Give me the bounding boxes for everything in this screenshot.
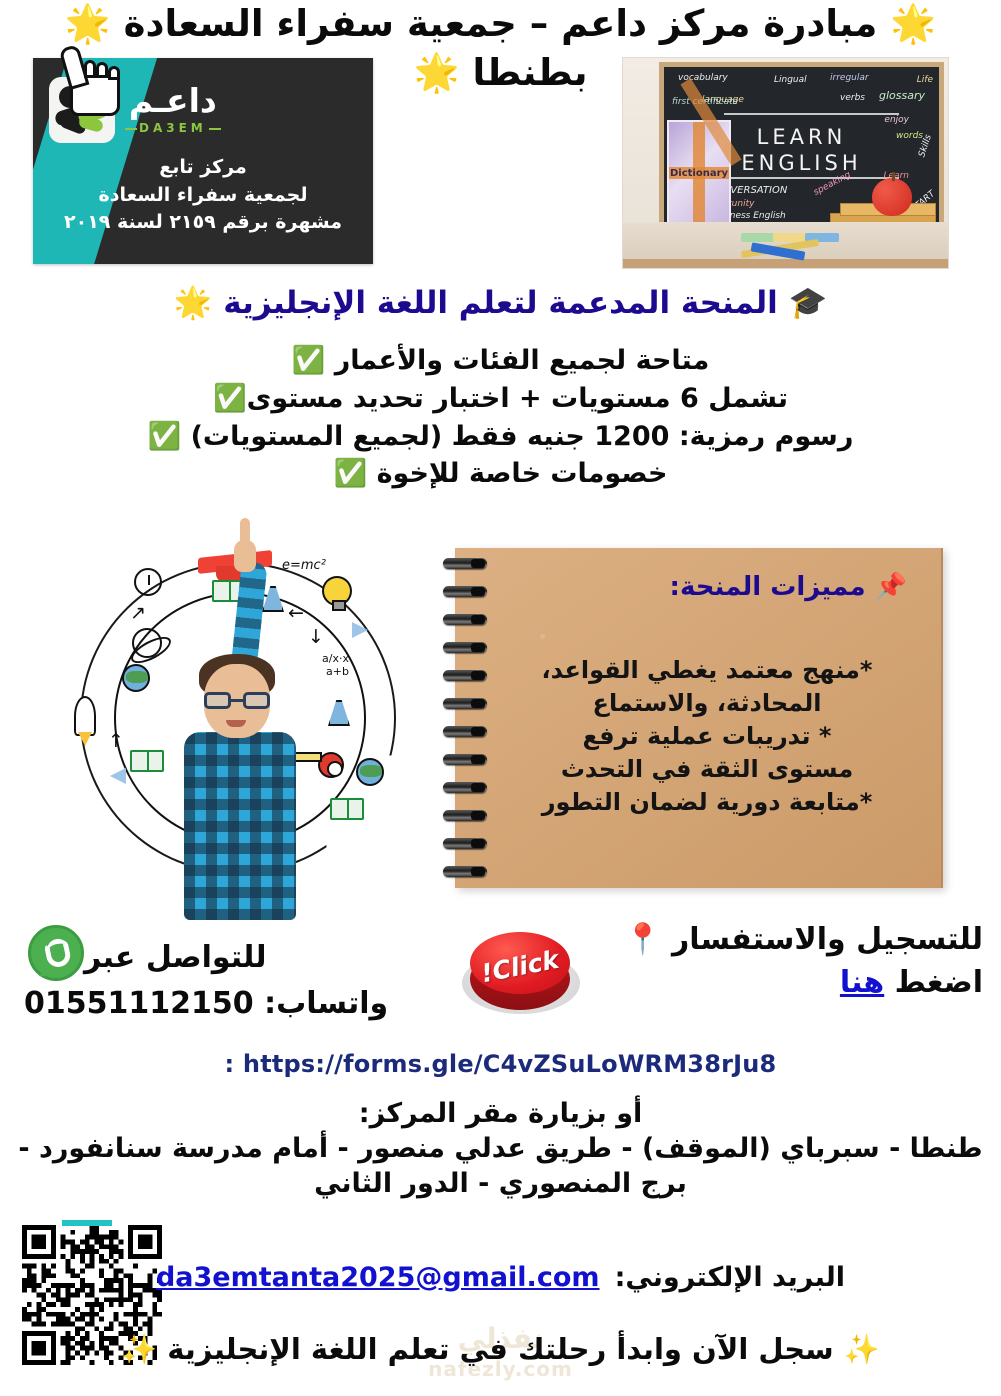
logo-sub-line2: لجمعية سفراء السعادة — [51, 182, 355, 210]
scholarship-features-notebook: 📌 مميزات المنحة: *منهج معتمد يغطي القواع… — [455, 548, 943, 888]
google-form-url[interactable]: : https://forms.gle/C4vZSuLoWRM38rJu8 — [0, 1050, 1001, 1078]
atom-doodle-icon — [132, 628, 162, 658]
email-label: البريد الإلكتروني: — [615, 1262, 845, 1293]
feature-line: مستوى الثقة في التحدث — [499, 753, 915, 786]
register-here-link[interactable]: هنا — [840, 965, 884, 1000]
center-address: أو بزيارة مقر المركز: طنطا - سبرباي (الم… — [0, 1096, 1001, 1201]
paper-plane-doodle-icon — [352, 622, 368, 638]
header-title-line1: 🌟 مبادرة مركز داعم – جمعية سفراء السعادة… — [14, 2, 987, 45]
apple-icon — [872, 178, 912, 216]
chalk-word: glossary — [879, 89, 925, 102]
footer-cta: ✨ سجل الآن وابدأ رحلتك في تعلم اللغة الإ… — [0, 1332, 1001, 1367]
scholarship-bullets: متاحة لجميع الفئات والأعمار ✅ تشمل 6 مست… — [0, 342, 1001, 493]
bullet-item: رسوم رمزية: 1200 جنيه فقط (لجميع المستوي… — [18, 418, 983, 456]
bullet-item: خصومات خاصة للإخوة ✅ — [18, 455, 983, 493]
address-line1: أو بزيارة مقر المركز: — [10, 1096, 991, 1131]
scholarship-heading: 🎓 المنحة المدعمة لتعلم اللغة الإنجليزية … — [0, 286, 1001, 322]
whatsapp-contact-block: للتواصل عبر واتساب: 01551112150 — [24, 925, 434, 1023]
chalk-word: Lingual — [774, 75, 807, 85]
notebook-doodle-icon — [330, 798, 364, 820]
bullet-item: تشمل 6 مستويات + اختبار تحديد مستوى✅ — [18, 380, 983, 418]
feature-line: *متابعة دورية لضمان التطور — [499, 786, 915, 819]
notebook-spiral-binding — [443, 548, 489, 888]
dictionary-label: Dictionary — [669, 168, 729, 179]
email-row: البريد الإلكتروني: da3emtanta2025@gmail.… — [0, 1262, 1001, 1293]
logo-sub-line1: مركز تابع — [51, 154, 355, 182]
chalk-stick — [741, 233, 775, 242]
formula-doodle: e=mc² — [282, 558, 326, 573]
notebook-doodle-icon — [130, 750, 164, 772]
email-address[interactable]: da3emtanta2025@gmail.com — [156, 1262, 600, 1293]
whatsapp-line1: للتواصل عبر — [24, 925, 434, 981]
logo-subtitle-block: مركز تابع لجمعية سفراء السعادة مشهرة برق… — [51, 154, 355, 237]
click-button[interactable]: Click! — [462, 928, 580, 1024]
globe-doodle-icon — [122, 664, 150, 692]
notebook-heading: 📌 مميزات المنحة: — [670, 572, 907, 602]
rocket-doodle-icon — [74, 696, 96, 736]
form-url-suffix: : — [225, 1050, 235, 1078]
student-illustration: e=mc² a/x·xa+b ← ↓ ↗ ↑ — [22, 540, 452, 920]
whatsapp-contact-label: للتواصل عبر — [84, 940, 266, 975]
chalk-word: Life — [917, 75, 933, 85]
lightbulb-doodle-icon — [324, 578, 350, 604]
logo-wordmark: داعـم DA3EM — [125, 84, 221, 136]
feature-line: المحادثة، والاستماع — [499, 687, 915, 720]
press-label: اضغط — [884, 965, 983, 1000]
address-line3: برج المنصوري - الدور الثاني — [10, 1166, 991, 1201]
notebook-features-list: *منهج معتمد يغطي القواعد، المحادثة، والا… — [499, 654, 915, 820]
flyer-root: 🌟 مبادرة مركز داعم – جمعية سفراء السعادة… — [0, 0, 1001, 1396]
whatsapp-number-line[interactable]: واتساب: 01551112150 — [24, 985, 434, 1023]
address-line2: طنطا - سبرباي (الموقف) - طريق عدلي منصور… — [10, 1131, 991, 1166]
logo-brand-latin: DA3EM — [125, 121, 221, 135]
boy-figure — [170, 636, 310, 920]
logo-sub-line3: مشهرة برقم ٢١٥٩ لسنة ٢٠١٩ — [51, 209, 355, 237]
english-dictionary-book: Dictionary — [667, 120, 731, 226]
feature-line: * تدريبات عملية ترفع — [499, 720, 915, 753]
globe-doodle-icon — [356, 758, 384, 786]
pointing-hand-cursor-icon — [62, 44, 128, 120]
whatsapp-icon[interactable] — [28, 925, 84, 981]
paper-plane-doodle-icon — [110, 768, 126, 784]
chalk-word: enjoy — [884, 115, 909, 125]
math-doodle: a/x·xa+b — [322, 652, 349, 678]
form-url-text[interactable]: https://forms.gle/C4vZSuLoWRM38rJu8 — [243, 1050, 777, 1078]
alarm-clock-doodle-icon — [134, 568, 162, 596]
bullet-item: متاحة لجميع الفئات والأعمار ✅ — [18, 342, 983, 380]
chalk-word: verbs — [840, 93, 865, 103]
learn-english-chalkboard-photo: vocabulary Lingual irregular Life langua… — [622, 57, 949, 269]
logo-brand-arabic: داعـم — [125, 84, 221, 117]
feature-line: *منهج معتمد يغطي القواعد، — [499, 654, 915, 687]
chalk-word: irregular — [830, 73, 869, 83]
